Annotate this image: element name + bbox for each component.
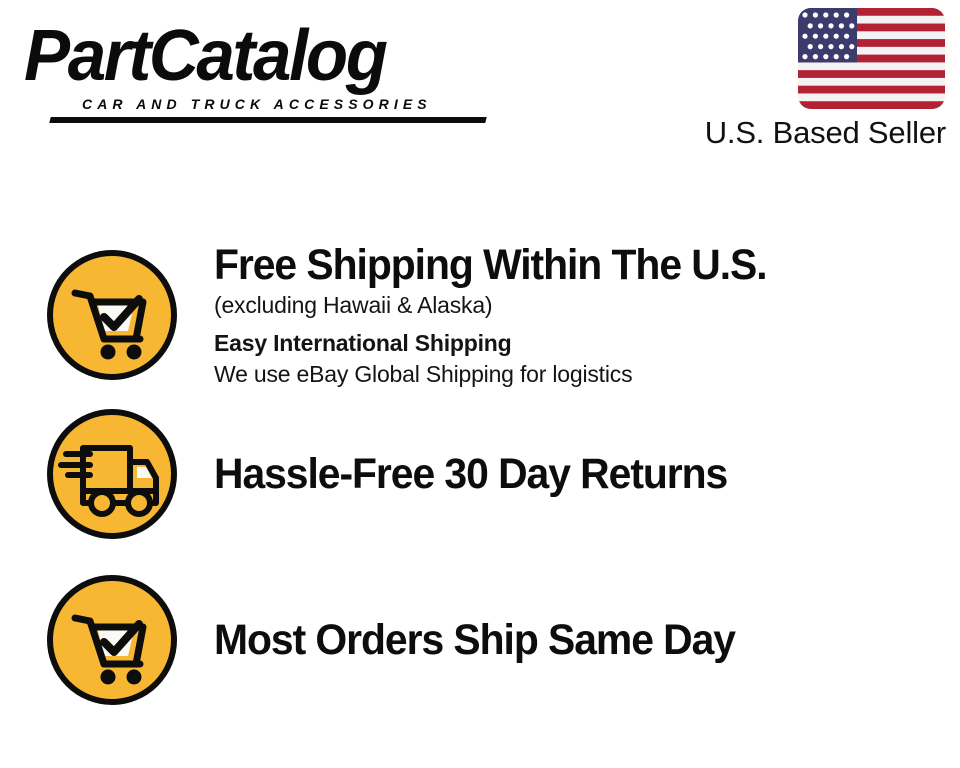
feature-title: Free Shipping Within The U.S.: [214, 240, 904, 290]
shopping-cart-check-icon: [42, 570, 182, 710]
shopping-cart-check-icon: [42, 245, 182, 385]
feature-subtitle-logistics: We use eBay Global Shipping for logistic…: [214, 359, 940, 390]
feature-text-free-shipping: Free Shipping Within The U.S. (excluding…: [214, 240, 960, 390]
brand-logo: PartCatalog CAR AND TRUCK ACCESSORIES: [24, 20, 474, 112]
brand-wordmark: PartCatalog: [24, 20, 456, 92]
feature-text-same-day-ship: Most Orders Ship Same Day: [214, 615, 960, 665]
feature-title: Most Orders Ship Same Day: [214, 615, 904, 665]
brand-tagline: CAR AND TRUCK ACCESSORIES: [82, 96, 432, 112]
feature-row-returns: Hassle-Free 30 Day Returns: [0, 404, 960, 544]
feature-text-returns: Hassle-Free 30 Day Returns: [214, 449, 960, 499]
brand-underline-rule: [49, 117, 486, 123]
feature-subtitle-exclusions: (excluding Hawaii & Alaska): [214, 290, 940, 321]
delivery-truck-icon: [42, 404, 182, 544]
feature-row-same-day-ship: Most Orders Ship Same Day: [0, 570, 960, 710]
feature-row-free-shipping: Free Shipping Within The U.S. (excluding…: [0, 240, 960, 390]
us-based-seller-block: U.S. Based Seller: [684, 8, 946, 151]
shipping-info-banner: PartCatalog CAR AND TRUCK ACCESSORIES: [0, 0, 960, 768]
us-based-seller-label: U.S. Based Seller: [684, 115, 946, 151]
feature-title: Hassle-Free 30 Day Returns: [214, 449, 904, 499]
us-flag-icon: [798, 8, 945, 109]
feature-subtitle-international: Easy International Shipping: [214, 328, 940, 359]
